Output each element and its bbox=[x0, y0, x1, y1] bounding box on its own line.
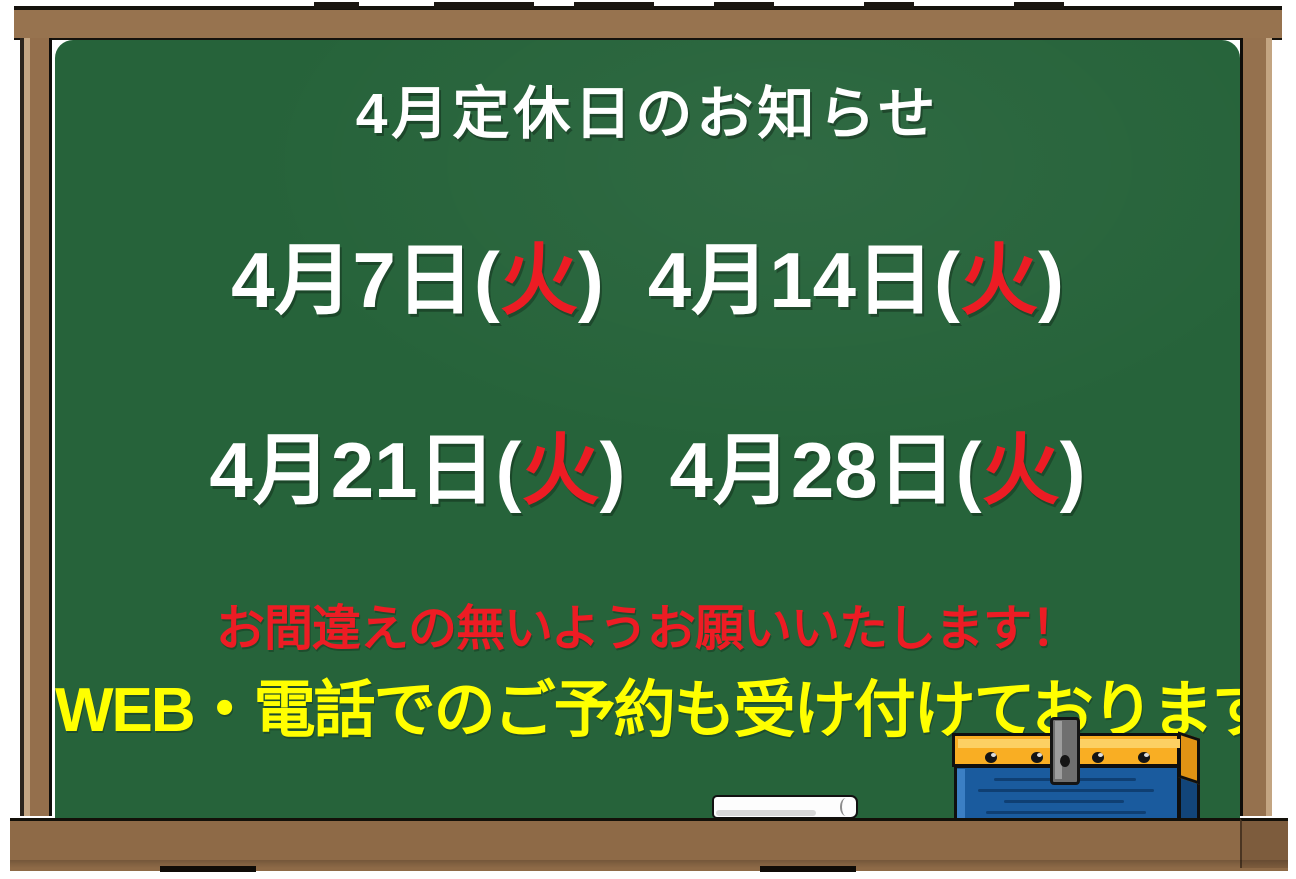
frame-right-rail bbox=[1240, 38, 1266, 816]
closed-date-4-open-paren: ( bbox=[956, 426, 982, 514]
date-row-second: 4月21日(火) 4月28日(火) bbox=[55, 426, 1240, 516]
eraser-screw-highlight bbox=[1098, 753, 1103, 757]
frame-top-rail bbox=[14, 6, 1282, 40]
closed-date-4: 4月28日(火) bbox=[670, 426, 1086, 516]
eraser-screw-highlight bbox=[1037, 753, 1042, 757]
chalk-ledge-notch bbox=[760, 866, 856, 872]
closed-date-2-date: 4月14日 bbox=[648, 236, 934, 324]
closed-date-1: 4月7日(火) bbox=[231, 236, 604, 326]
eraser-screw-highlight bbox=[1144, 753, 1149, 757]
closed-date-1-open-paren: ( bbox=[474, 236, 500, 324]
poster-canvas: 4月定休日のお知らせ 4月7日(火) 4月14日(火) 4月21日(火) 4月2… bbox=[0, 0, 1296, 879]
eraser-felt-line bbox=[986, 811, 1146, 814]
date-row-first: 4月7日(火) 4月14日(火) bbox=[55, 236, 1240, 326]
eraser-clip-hole bbox=[1060, 755, 1070, 767]
closed-date-2-dow: 火 bbox=[960, 236, 1038, 324]
chalk-ledge-notch bbox=[160, 866, 256, 872]
closed-date-3-date: 4月21日 bbox=[209, 426, 495, 514]
eraser-screw-highlight bbox=[991, 753, 996, 757]
chalkboard-surface: 4月定休日のお知らせ 4月7日(火) 4月14日(火) 4月21日(火) 4月2… bbox=[55, 40, 1240, 818]
frame-top-edge-notches bbox=[14, 2, 1282, 9]
eraser-wood-side bbox=[1178, 731, 1200, 784]
closed-date-4-date: 4月28日 bbox=[670, 426, 956, 514]
closed-date-3-open-paren: ( bbox=[496, 426, 522, 514]
closed-date-2: 4月14日(火) bbox=[648, 236, 1064, 326]
closed-date-1-close-paren: ) bbox=[578, 236, 604, 324]
closed-date-2-open-paren: ( bbox=[934, 236, 960, 324]
frame-left-rail bbox=[30, 38, 52, 816]
closed-date-1-dow: 火 bbox=[500, 236, 578, 324]
closed-date-3-dow: 火 bbox=[522, 426, 600, 514]
warning-message: お間違えの無いようお願いいたします！ bbox=[55, 603, 1240, 657]
eraser-felt-line bbox=[1004, 800, 1124, 803]
closed-date-2-close-paren: ) bbox=[1038, 236, 1064, 324]
closed-date-3: 4月21日(火) bbox=[209, 426, 625, 516]
closed-date-4-dow: 火 bbox=[982, 426, 1060, 514]
chalk-stick-shade bbox=[716, 810, 816, 816]
eraser-felt-line bbox=[978, 789, 1154, 792]
closed-date-1-date: 4月7日 bbox=[231, 236, 474, 324]
blackboard-eraser-icon bbox=[952, 733, 1200, 821]
page-title: 4月定休日のお知らせ bbox=[55, 86, 1240, 143]
closed-date-3-close-paren: ) bbox=[600, 426, 626, 514]
eraser-clip-highlight bbox=[1055, 721, 1062, 779]
closed-date-4-close-paren: ) bbox=[1060, 426, 1086, 514]
eraser-felt-highlight bbox=[957, 769, 965, 819]
frame-right-highlight bbox=[1266, 38, 1272, 816]
